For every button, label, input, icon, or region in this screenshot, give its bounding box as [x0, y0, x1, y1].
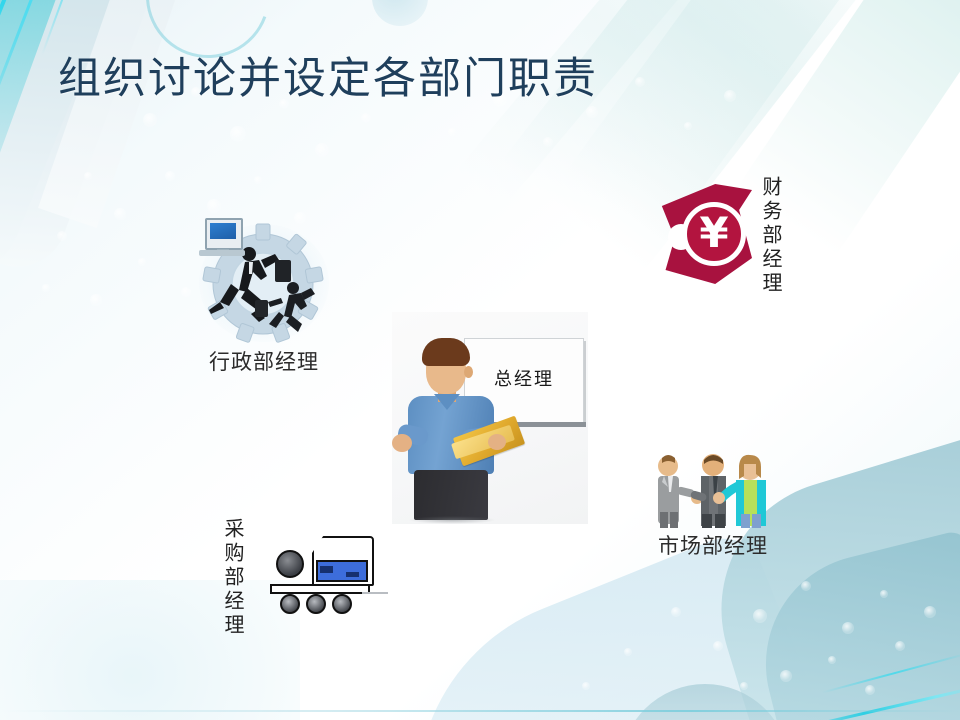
person-middle [690, 454, 726, 528]
truck-wheel-1 [280, 594, 300, 614]
slide-canvas: 组织讨论并设定各部门职责 总经理 [0, 0, 960, 720]
bottom-right-cyan-line-a [782, 683, 960, 720]
admin-department-node[interactable]: 行政部经理 [178, 218, 350, 376]
top-left-cyan-line-b [0, 0, 64, 133]
presenter-ear [464, 366, 473, 378]
presenter-trousers [414, 470, 488, 520]
top-left-gray-ribbon [0, 0, 208, 281]
monitor-stand [199, 250, 245, 256]
truck-window-rear [346, 572, 359, 577]
delivery-truck-icon [270, 536, 374, 618]
handshake-trio-svg [640, 452, 786, 530]
truck-ground-line [362, 592, 388, 594]
handshake-business-people-icon [640, 452, 786, 530]
yuan-currency-logo-icon: ¥ [660, 184, 756, 288]
top-bokeh-dot [372, 0, 428, 26]
yuan-glyph: ¥ [699, 212, 728, 254]
marketing-department-node[interactable]: 市场部经理 [628, 452, 798, 560]
presenter-right-hand [488, 434, 506, 450]
truck-deck [270, 584, 370, 594]
truck-wheel-2 [306, 594, 326, 614]
purchasing-department-label: 采购部经理 [222, 518, 242, 638]
truck-spare-wheel [276, 550, 304, 578]
finance-department-node[interactable]: ¥ 财务部经理 [660, 176, 810, 316]
yuan-circle: ¥ [682, 202, 746, 266]
truck-wheel-3 [332, 594, 352, 614]
marketing-department-label: 市场部经理 [628, 530, 798, 560]
gear-with-businessmen-icon [189, 218, 339, 346]
slide-title: 组织讨论并设定各部门职责 [58, 44, 598, 106]
admin-department-label: 行政部经理 [178, 346, 350, 376]
presenter-left-hand [392, 434, 412, 452]
truck-window-front [320, 566, 333, 573]
bottom-hairline [0, 710, 960, 712]
finance-department-label: 财务部经理 [760, 176, 780, 296]
bottom-right-cyan-line-b [822, 653, 960, 694]
top-left-gray-ribbon-secondary [38, 0, 240, 228]
bottom-right-soft-arc [620, 684, 790, 720]
presenter-figure-icon [404, 330, 508, 516]
top-left-cyan-line-a [0, 0, 27, 133]
presenter-shadow [408, 516, 496, 524]
computer-monitor-icon [205, 218, 243, 250]
presenter-hair [422, 338, 470, 366]
general-manager-node[interactable]: 总经理 [392, 312, 588, 524]
purchasing-department-node[interactable]: 采购部经理 [222, 512, 372, 642]
